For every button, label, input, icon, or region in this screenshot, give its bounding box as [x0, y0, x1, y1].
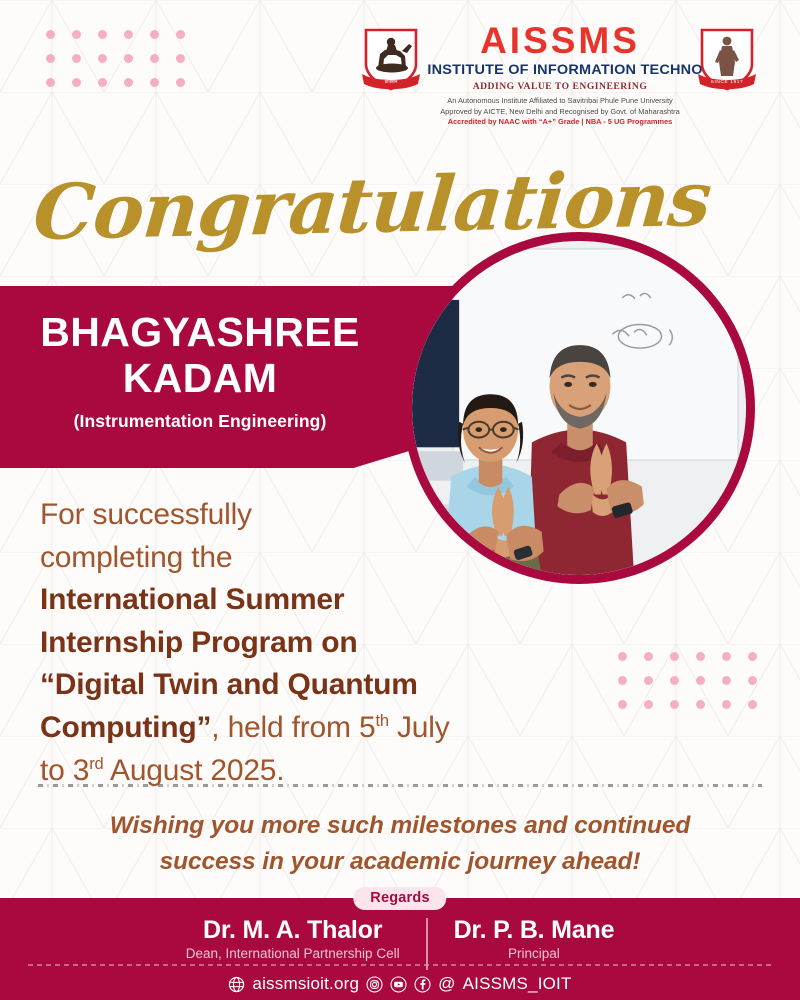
poster-header: प्रतिष्ठान AISSMS INSTITUTE OF INFORMATI… [0, 0, 800, 130]
svg-text:प्रतिष्ठान: प्रतिष्ठान [385, 78, 398, 85]
accreditation-line-3: Accredited by NAAC with “A+” Grade | NBA… [430, 117, 690, 128]
accreditation-line-1: An Autonomous Institute Affiliated to Sa… [430, 96, 690, 107]
accreditation-block: An Autonomous Institute Affiliated to Sa… [430, 96, 690, 128]
citation-month-july: July [389, 711, 450, 744]
youtube-icon[interactable] [390, 976, 407, 993]
svg-text:SINCE 1917: SINCE 1917 [711, 79, 744, 85]
signatory-principal-role: Principal [454, 946, 615, 961]
wish-line-2: success in your academic journey ahead! [160, 848, 641, 875]
decorative-dot-grid-topleft [46, 30, 185, 87]
signatories-row: Dr. M. A. Thalor Dean, International Par… [0, 916, 800, 970]
facebook-icon[interactable] [414, 976, 431, 993]
aissms-equestrian-crest-icon: प्रतिष्ठान [358, 24, 424, 94]
awardee-name-line1: BHAGYASHREE [40, 310, 360, 356]
awardee-name-line2: KADAM [123, 356, 278, 402]
footer-dashed-divider [28, 964, 772, 966]
citation-bold-2: Internship Program on [40, 626, 358, 659]
citation-bold-1: International Summer [40, 583, 344, 616]
citation-sup-th: th [375, 712, 388, 730]
citation-to: to 3 [40, 754, 89, 787]
institute-tagline: ADDING VALUE TO ENGINEERING [430, 81, 690, 92]
citation-lead-1: For successfully [40, 498, 252, 531]
poster-footer: Regards Dr. M. A. Thalor Dean, Internati… [0, 898, 800, 1000]
signatory-principal-name: Dr. P. B. Mane [454, 916, 615, 945]
citation-held-from: , held from 5 [211, 711, 375, 744]
citation-lead-2: completing the [40, 541, 232, 574]
signatory-dean: Dr. M. A. Thalor Dean, International Par… [160, 916, 426, 961]
wish-line-1: Wishing you more such milestones and con… [110, 812, 691, 839]
instagram-icon[interactable] [366, 976, 383, 993]
citation-bold-3: “Digital Twin and Quantum [40, 668, 418, 701]
signatory-principal: Dr. P. B. Mane Principal [428, 916, 641, 961]
brand-name: AISSMS [430, 22, 690, 59]
decorative-dot-grid-right [618, 652, 757, 709]
citation-text: For successfully completing the Internat… [40, 494, 510, 792]
social-bar: aissmsioit.org @ AISSMS_IOIT [0, 974, 800, 994]
signatory-dean-role: Dean, International Partnership Cell [186, 946, 400, 961]
social-handle[interactable]: AISSMS_IOIT [463, 974, 572, 994]
citation-sup-rd: rd [89, 755, 103, 773]
accreditation-line-2: Approved by AICTE, New Delhi and Recogni… [430, 107, 690, 118]
at-symbol: @ [438, 974, 455, 994]
wish-message: Wishing you more such milestones and con… [60, 808, 740, 880]
aissms-statue-crest-icon: SINCE 1917 [694, 24, 760, 94]
institute-name: INSTITUTE OF INFORMATION TECHNOLOGY [427, 62, 692, 78]
globe-icon [228, 976, 245, 993]
citation-month-august: August 2025. [104, 754, 285, 787]
regards-badge: Regards [353, 887, 446, 910]
website-url[interactable]: aissmsioit.org [252, 974, 359, 994]
institute-brand-block: AISSMS INSTITUTE OF INFORMATION TECHNOLO… [430, 22, 690, 128]
citation-bold-4: Computing” [40, 711, 211, 744]
signatory-dean-name: Dr. M. A. Thalor [186, 916, 400, 945]
awardee-branch: (Instrumentation Engineering) [74, 411, 327, 432]
certificate-poster: प्रतिष्ठान AISSMS INSTITUTE OF INFORMATI… [0, 0, 800, 1000]
